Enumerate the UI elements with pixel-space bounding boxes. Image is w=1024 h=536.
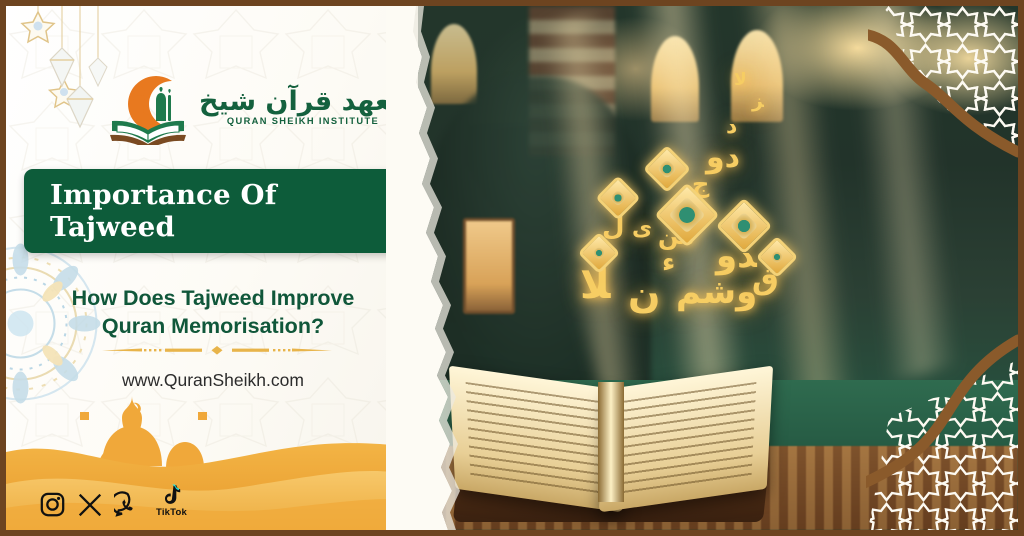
- social-links: TikTok: [39, 484, 187, 518]
- star-ornament: [22, 12, 54, 42]
- arabic-calligraphy-cluster: ﻻ ﺰ ﺩ ﺩﻭ ﺝ ﻝ ﻯ ﻣﻦ ﺀ ﺪﻭ ﻼ ﻥ ﻭﺷﻢ ﻕ: [566, 66, 826, 346]
- quran-right-page: [599, 366, 773, 513]
- open-quran-book: [446, 342, 776, 522]
- subtitle: How Does Tajweed Improve Quran Memorisat…: [28, 284, 398, 341]
- logo-english-text: QURAN SHEIKH INSTITUTE: [227, 116, 379, 126]
- crescent-mosque-book-logo-icon: [106, 69, 190, 145]
- whatsapp-icon[interactable]: [114, 491, 141, 518]
- torn-paper-edge: [386, 6, 460, 530]
- subtitle-line-1: How Does Tajweed Improve: [28, 284, 398, 312]
- tiktok-label: TikTok: [156, 507, 187, 518]
- tiktok-link[interactable]: TikTok: [156, 484, 187, 518]
- lantern-ornament: [89, 58, 107, 86]
- instagram-icon[interactable]: [39, 491, 66, 518]
- gold-diamond-divider: [98, 342, 336, 358]
- tiktok-icon: [161, 484, 182, 506]
- page-title: Importance Of Tajweed: [50, 179, 409, 243]
- mosque-interior-photo: ﻻ ﺰ ﺩ ﺩﻭ ﺝ ﻝ ﻯ ﻣﻦ ﺀ ﺪﻭ ﻼ ﻥ ﻭﺷﻢ ﻕ: [401, 6, 1018, 530]
- lit-doorway: [463, 218, 515, 314]
- x-twitter-icon[interactable]: [77, 492, 103, 518]
- book-spine: [598, 382, 624, 502]
- logo-arabic-text: معهد قرآن شيخ: [199, 88, 407, 115]
- brand-logo[interactable]: معهد قرآن شيخ QURAN SHEIKH INSTITUTE: [106, 69, 407, 145]
- promotional-banner: ﻻ ﺰ ﺩ ﺩﻭ ﺝ ﻝ ﻯ ﻣﻦ ﺀ ﺪﻭ ﻼ ﻥ ﻭﺷﻢ ﻕ: [0, 0, 1024, 536]
- quran-left-page: [449, 366, 623, 513]
- content-panel: معهد قرآن شيخ QURAN SHEIKH INSTITUTE Imp…: [6, 6, 418, 530]
- lantern-ornament: [50, 48, 74, 86]
- title-banner: Importance Of Tajweed: [24, 169, 409, 253]
- website-url[interactable]: www.QuranSheikh.com: [28, 370, 398, 391]
- subtitle-line-2: Quran Memorisation?: [28, 312, 398, 340]
